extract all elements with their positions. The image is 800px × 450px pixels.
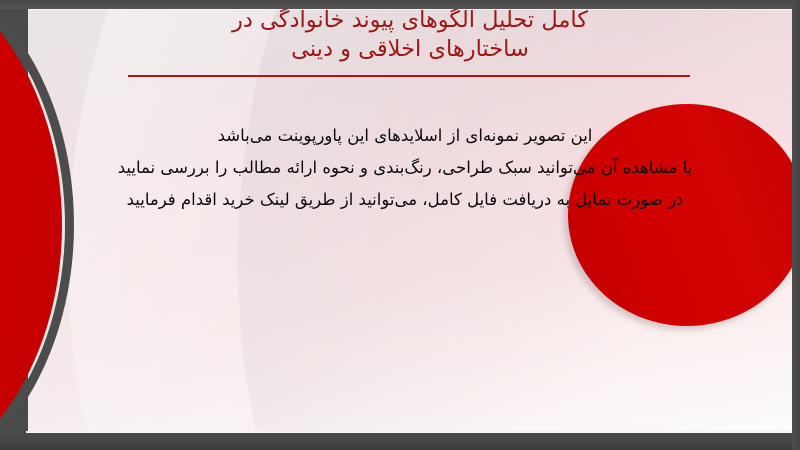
slide-frame-bottom <box>0 433 800 450</box>
slide-title: کامل تحلیل الگوهای پیوند خانوادگی در ساخ… <box>100 6 720 64</box>
presentation-slide: کامل تحلیل الگوهای پیوند خانوادگی در ساخ… <box>0 0 800 450</box>
background-arc-6 <box>28 9 558 433</box>
slide-frame-top <box>0 0 800 9</box>
body-line-2: با مشاهده آن می‌توانید سبک طراحی، رنگ‌بن… <box>60 152 750 184</box>
title-underline-rule <box>128 75 690 77</box>
slide-body: این تصویر نمونه‌ای از اسلایدهای این پاور… <box>60 120 750 216</box>
body-line-3: در صورت تمایل به دریافت فایل کامل، می‌تو… <box>60 184 750 216</box>
body-line-1: این تصویر نمونه‌ای از اسلایدهای این پاور… <box>60 120 750 152</box>
slide-title-line-2: ساختارهای اخلاقی و دینی <box>100 35 720 64</box>
slide-frame-right <box>792 0 800 450</box>
slide-title-line-1: کامل تحلیل الگوهای پیوند خانوادگی در <box>100 6 720 35</box>
